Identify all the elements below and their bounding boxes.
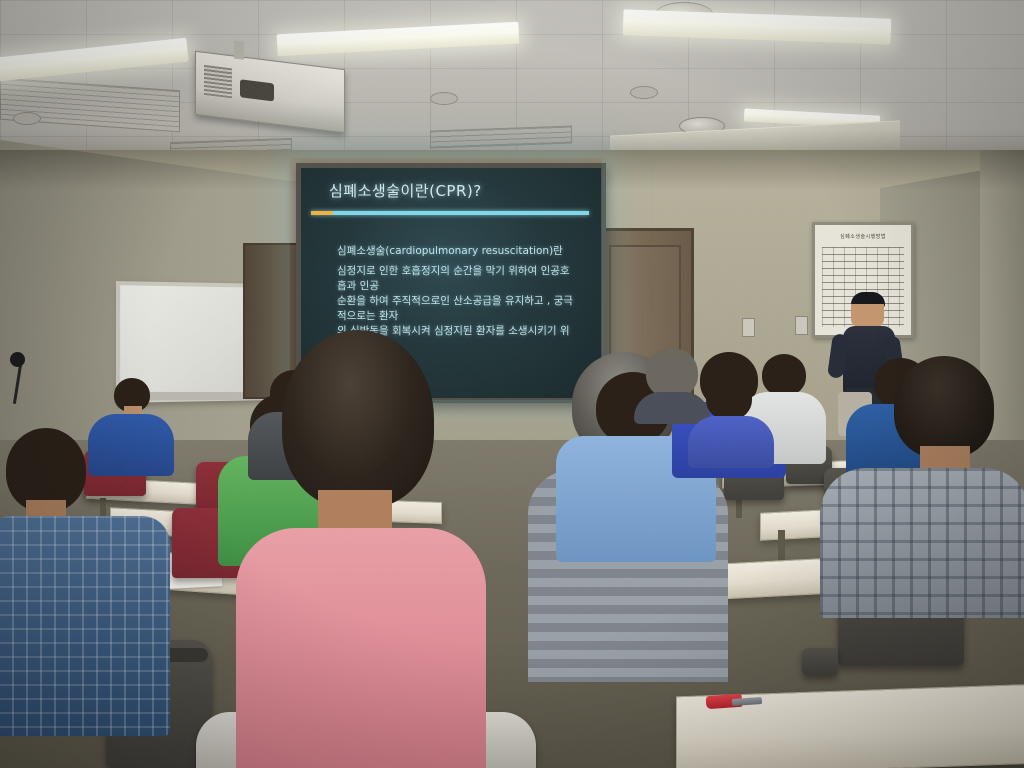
chair-part[interactable] [802, 648, 838, 676]
torso [688, 416, 774, 468]
slide-title: 심폐소생술이란(CPR)? [329, 180, 482, 201]
stapler[interactable] [706, 692, 762, 710]
head [282, 330, 434, 508]
audience-member-checked-shirt-right [820, 356, 1024, 616]
light-switch[interactable] [742, 318, 755, 337]
smoke-detector-icon [630, 86, 658, 99]
torso [236, 528, 486, 768]
classroom-photo: 심폐소생술시행방법 심폐소생술이란(CPR)? 심폐소생술(cardiopulm… [0, 0, 1024, 768]
microphone [2, 352, 48, 398]
microphone-head-icon [10, 352, 25, 367]
light-switch[interactable] [795, 316, 808, 335]
slide-body-line: 심정지로 인한 호흡정지의 순간을 막기 위하여 인공호흡과 인공 [337, 264, 577, 294]
audience-member-back-row-right [688, 376, 774, 468]
slide-divider [311, 211, 589, 215]
torso [820, 468, 1024, 618]
smoke-detector-icon [13, 112, 41, 125]
head [706, 376, 752, 420]
slide-heading-line: 심폐소생술(cardiopulmonary resuscitation)란 [337, 244, 577, 259]
head [894, 356, 994, 458]
projector-lens [240, 79, 274, 101]
audience-member-pink-shirt-foreground [236, 330, 486, 768]
torso [0, 516, 170, 736]
smoke-detector-icon [430, 92, 458, 105]
slide-body-line: 순환을 하여 주직적으로인 산소공급을 유지하고 , 궁극적으로는 환자 [337, 294, 577, 324]
poster-title: 심폐소생술시행방법 [815, 233, 911, 240]
audience-member-plaid-shirt-left [0, 428, 170, 768]
